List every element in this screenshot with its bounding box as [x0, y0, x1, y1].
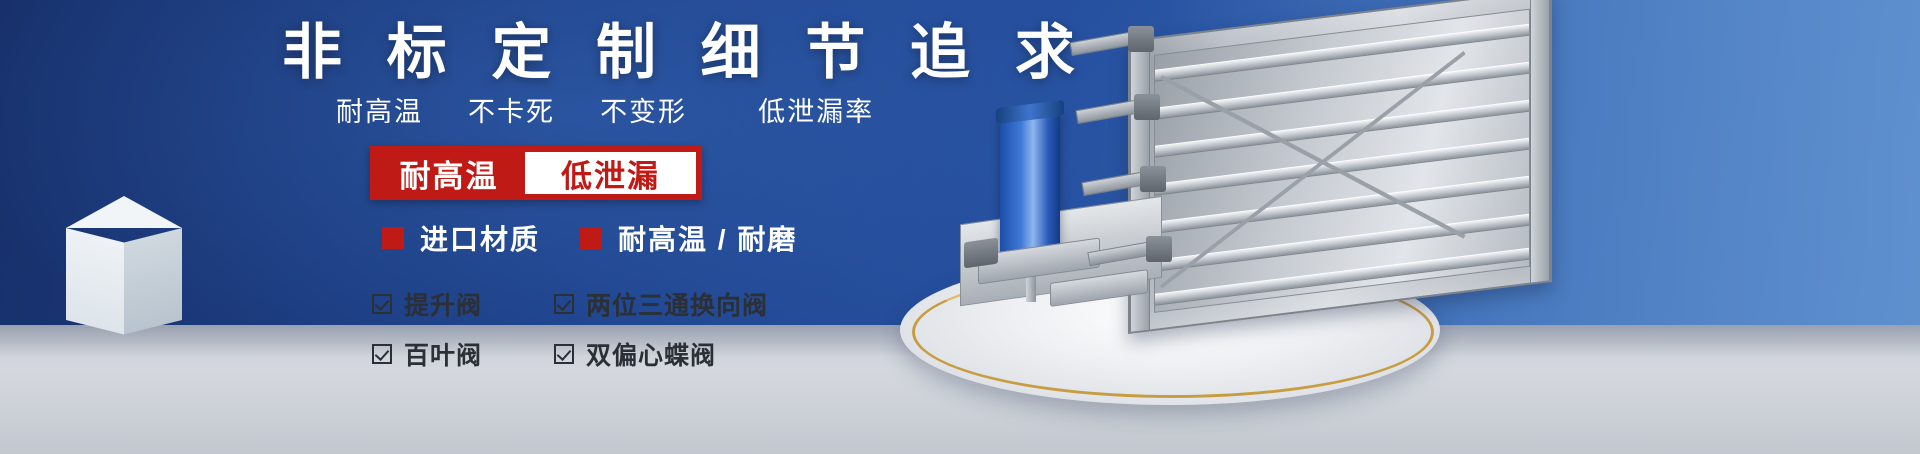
subtitle: 耐高温 不卡死 不变形 低泄漏率 — [336, 92, 874, 132]
shaft-coupling-bottom — [1146, 236, 1172, 262]
checklist-label-louver-valve: 百叶阀 — [404, 336, 482, 372]
cube-left-face — [66, 228, 124, 334]
tag-label-low-leak: 低泄漏 — [525, 152, 696, 194]
check-box-icon — [554, 344, 574, 364]
damper-brace — [1160, 51, 1466, 289]
checklist-label-double-eccentric-butterfly: 双偏心蝶阀 — [586, 336, 716, 372]
checklist-item: 百叶阀 — [372, 336, 554, 372]
shaft-coupling-top — [1128, 26, 1154, 52]
pneumatic-cylinder-main — [1000, 108, 1060, 265]
tag-label-high-temp: 耐高温 — [373, 149, 525, 197]
shaft-coupling-lower-mid — [1140, 166, 1166, 192]
promo-banner: 非 标 定 制 细 节 追 求 耐高温 不卡死 不变形 低泄漏率 耐高温 低泄漏… — [0, 0, 1920, 454]
cube-right-face — [124, 228, 182, 334]
checklist-label-two-position-three-way: 两位三通换向阀 — [586, 286, 768, 322]
shaft-coupling-upper-mid — [1134, 94, 1160, 120]
checklist-item: 双偏心蝶阀 — [554, 336, 768, 372]
product-checklist: 提升阀 两位三通换向阀 百叶阀 双偏心蝶阀 — [372, 286, 768, 372]
damper-frame-inner — [1154, 9, 1530, 313]
feature-label-imported-material: 进口材质 — [420, 218, 540, 258]
check-box-icon — [372, 344, 392, 364]
solenoid-valve — [964, 238, 998, 269]
cube-top-face — [66, 196, 182, 228]
check-box-icon — [372, 294, 392, 314]
checklist-label-lift-valve: 提升阀 — [404, 286, 482, 322]
page-title: 非 标 定 制 细 节 追 求 — [282, 16, 1089, 90]
check-box-icon — [554, 294, 574, 314]
highlight-tag-box: 耐高温 低泄漏 — [370, 146, 702, 200]
damper-right-flange — [1530, 0, 1550, 283]
subtitle-part-1: 耐高温 — [336, 97, 423, 127]
subtitle-part-2: 不卡死 — [468, 97, 555, 127]
red-square-icon — [580, 227, 602, 249]
damper-body — [1128, 0, 1552, 334]
red-square-icon — [382, 227, 404, 249]
feature-list: 进口材质 耐高温 / 耐磨 — [382, 218, 837, 258]
subtitle-part-3: 不变形 — [600, 97, 687, 127]
subtitle-part-4: 低泄漏率 — [758, 97, 874, 127]
checklist-item: 提升阀 — [372, 286, 554, 322]
feature-label-heat-wear-resistant: 耐高温 / 耐磨 — [618, 218, 797, 258]
checklist-item: 两位三通换向阀 — [554, 286, 768, 322]
